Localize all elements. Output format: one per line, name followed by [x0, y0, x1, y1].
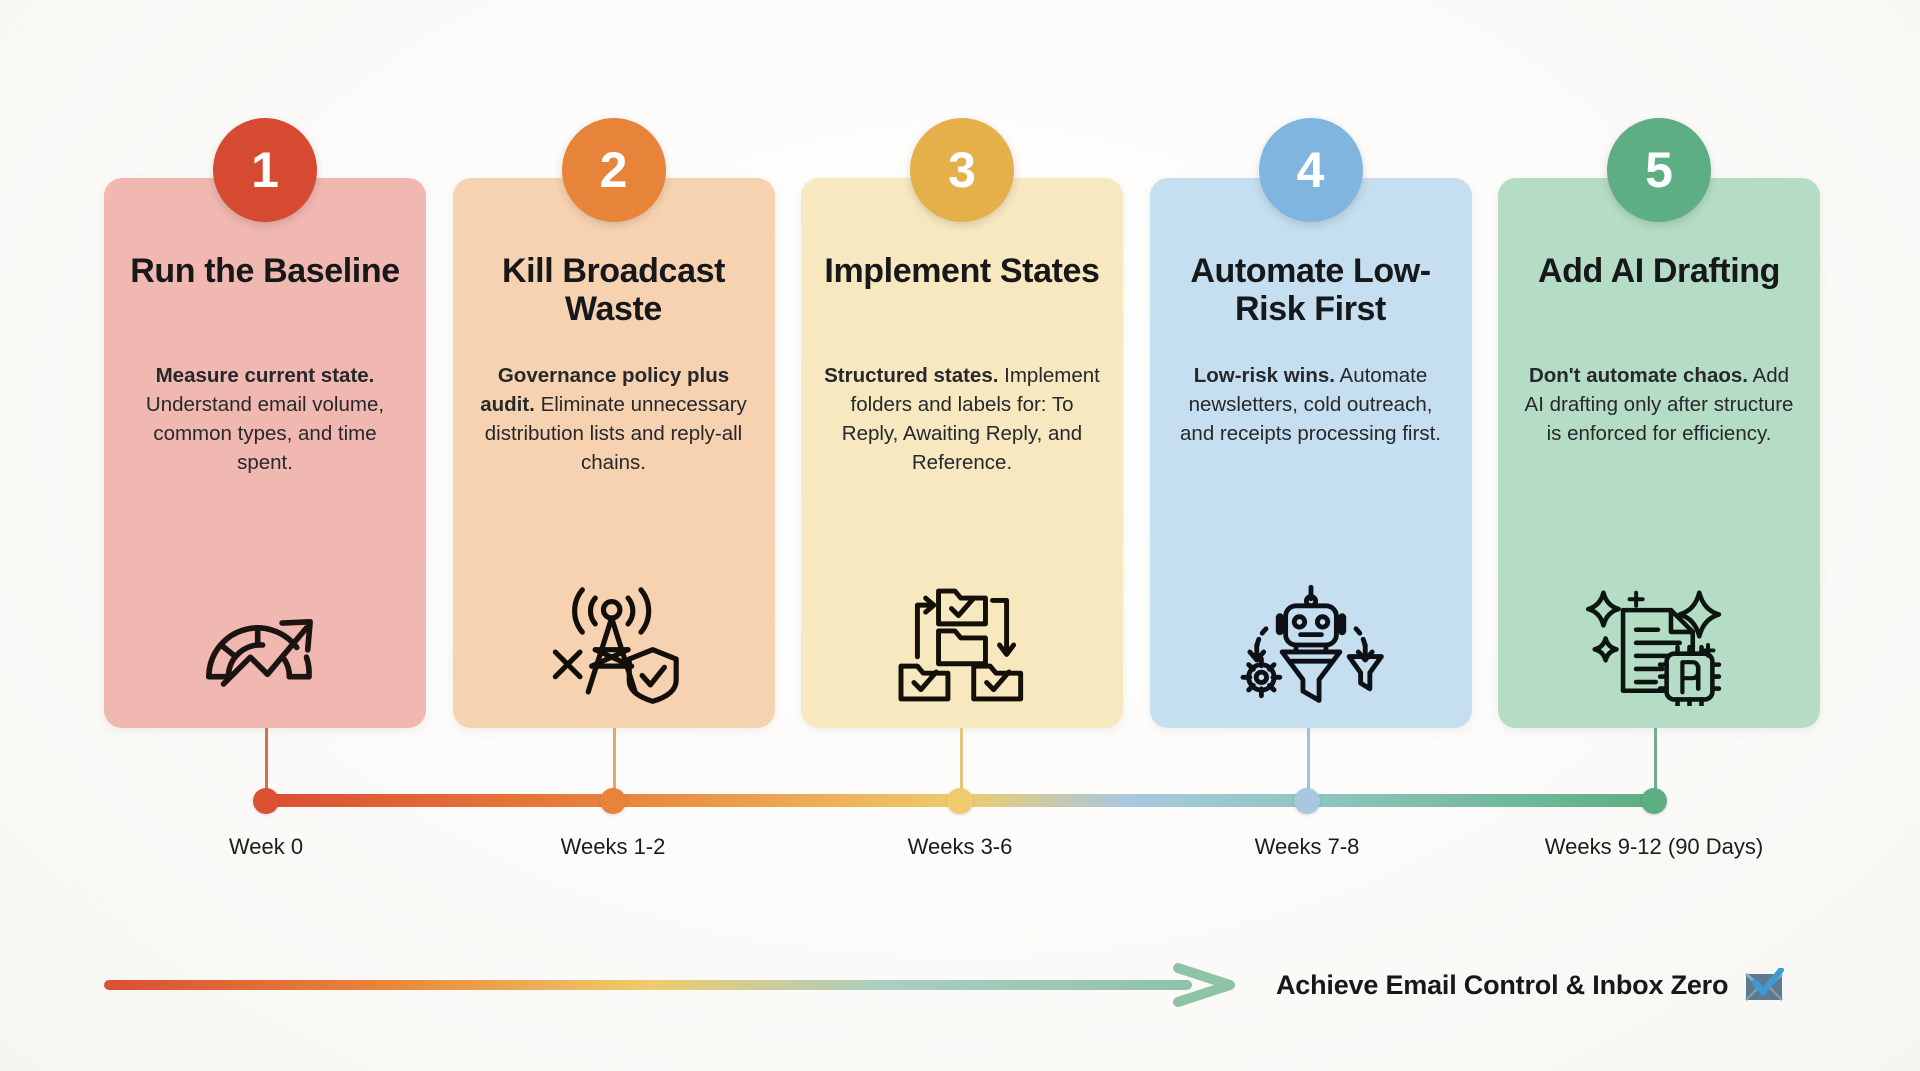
step-lead-1: Measure current state.: [156, 364, 375, 387]
step-card-5[interactable]: 5 Add AI Drafting Don't automate chaos. …: [1498, 178, 1820, 728]
step-badge-3: 3: [910, 118, 1014, 222]
step-card-1[interactable]: 1 Run the Baseline Measure current state…: [104, 178, 426, 728]
step-body-1: Understand email volume, common types, a…: [146, 393, 384, 474]
timeline-label-5: Weeks 9-12 (90 Days): [1545, 834, 1763, 860]
step-title-4: Automate Low-Risk First: [1170, 252, 1452, 348]
step-title-1: Run the Baseline: [130, 252, 399, 348]
timeline-node-2[interactable]: [600, 788, 626, 814]
timeline-node-5[interactable]: [1641, 788, 1667, 814]
step-description-4: Low-risk wins. Automate newsletters, col…: [1170, 362, 1452, 449]
step-title-3: Implement States: [824, 252, 1099, 348]
timeline-label-4: Weeks 7-8: [1255, 834, 1360, 860]
infographic-root: 1 Run the Baseline Measure current state…: [0, 0, 1920, 1071]
step-card-3[interactable]: 3 Implement States Structured states. Im…: [801, 178, 1123, 728]
timeline-label-3: Weeks 3-6: [908, 834, 1013, 860]
email-check-icon: [1744, 968, 1784, 1002]
step-title-5: Add AI Drafting: [1538, 252, 1780, 348]
step-number-3: 3: [948, 145, 976, 195]
step-description-3: Structured states. Implement folders and…: [821, 362, 1103, 478]
step-title-2: Kill Broadcast Waste: [473, 252, 755, 348]
broadcast-tower-blocked-icon: [539, 584, 689, 706]
step-lead-3: Structured states.: [824, 364, 998, 387]
step-number-5: 5: [1645, 145, 1673, 195]
step-badge-4: 4: [1259, 118, 1363, 222]
step-number-2: 2: [600, 145, 628, 195]
gradient-right-arrow-icon: [104, 962, 1240, 1008]
footer-goal: Achieve Email Control & Inbox Zero: [1276, 962, 1784, 1008]
timeline-label-1: Week 0: [229, 834, 303, 860]
gauge-growth-icon: [190, 584, 340, 706]
step-lead-4: Low-risk wins.: [1194, 364, 1335, 387]
step-badge-2: 2: [562, 118, 666, 222]
step-card-4[interactable]: 4 Automate Low-Risk First Low-risk wins.…: [1150, 178, 1472, 728]
step-badge-1: 1: [213, 118, 317, 222]
robot-funnel-icon: [1236, 584, 1386, 706]
step-lead-5: Don't automate chaos.: [1529, 364, 1748, 387]
step-badge-5: 5: [1607, 118, 1711, 222]
step-description-1: Measure current state. Understand email …: [124, 362, 406, 478]
footer-label: Achieve Email Control & Inbox Zero: [1276, 970, 1728, 1001]
timeline-label-2: Weeks 1-2: [561, 834, 666, 860]
ai-document-icon: [1584, 584, 1734, 706]
timeline-node-1[interactable]: [253, 788, 279, 814]
step-cards-row: 1 Run the Baseline Measure current state…: [104, 178, 1820, 728]
step-description-2: Governance policy plus audit. Eliminate …: [473, 362, 755, 478]
timeline-node-3[interactable]: [947, 788, 973, 814]
folder-workflow-icon: [887, 584, 1037, 706]
step-number-1: 1: [251, 145, 279, 195]
step-description-5: Don't automate chaos. Add AI drafting on…: [1518, 362, 1800, 449]
step-number-4: 4: [1297, 145, 1325, 195]
timeline-node-4[interactable]: [1294, 788, 1320, 814]
step-card-2[interactable]: 2 Kill Broadcast Waste Governance policy…: [453, 178, 775, 728]
